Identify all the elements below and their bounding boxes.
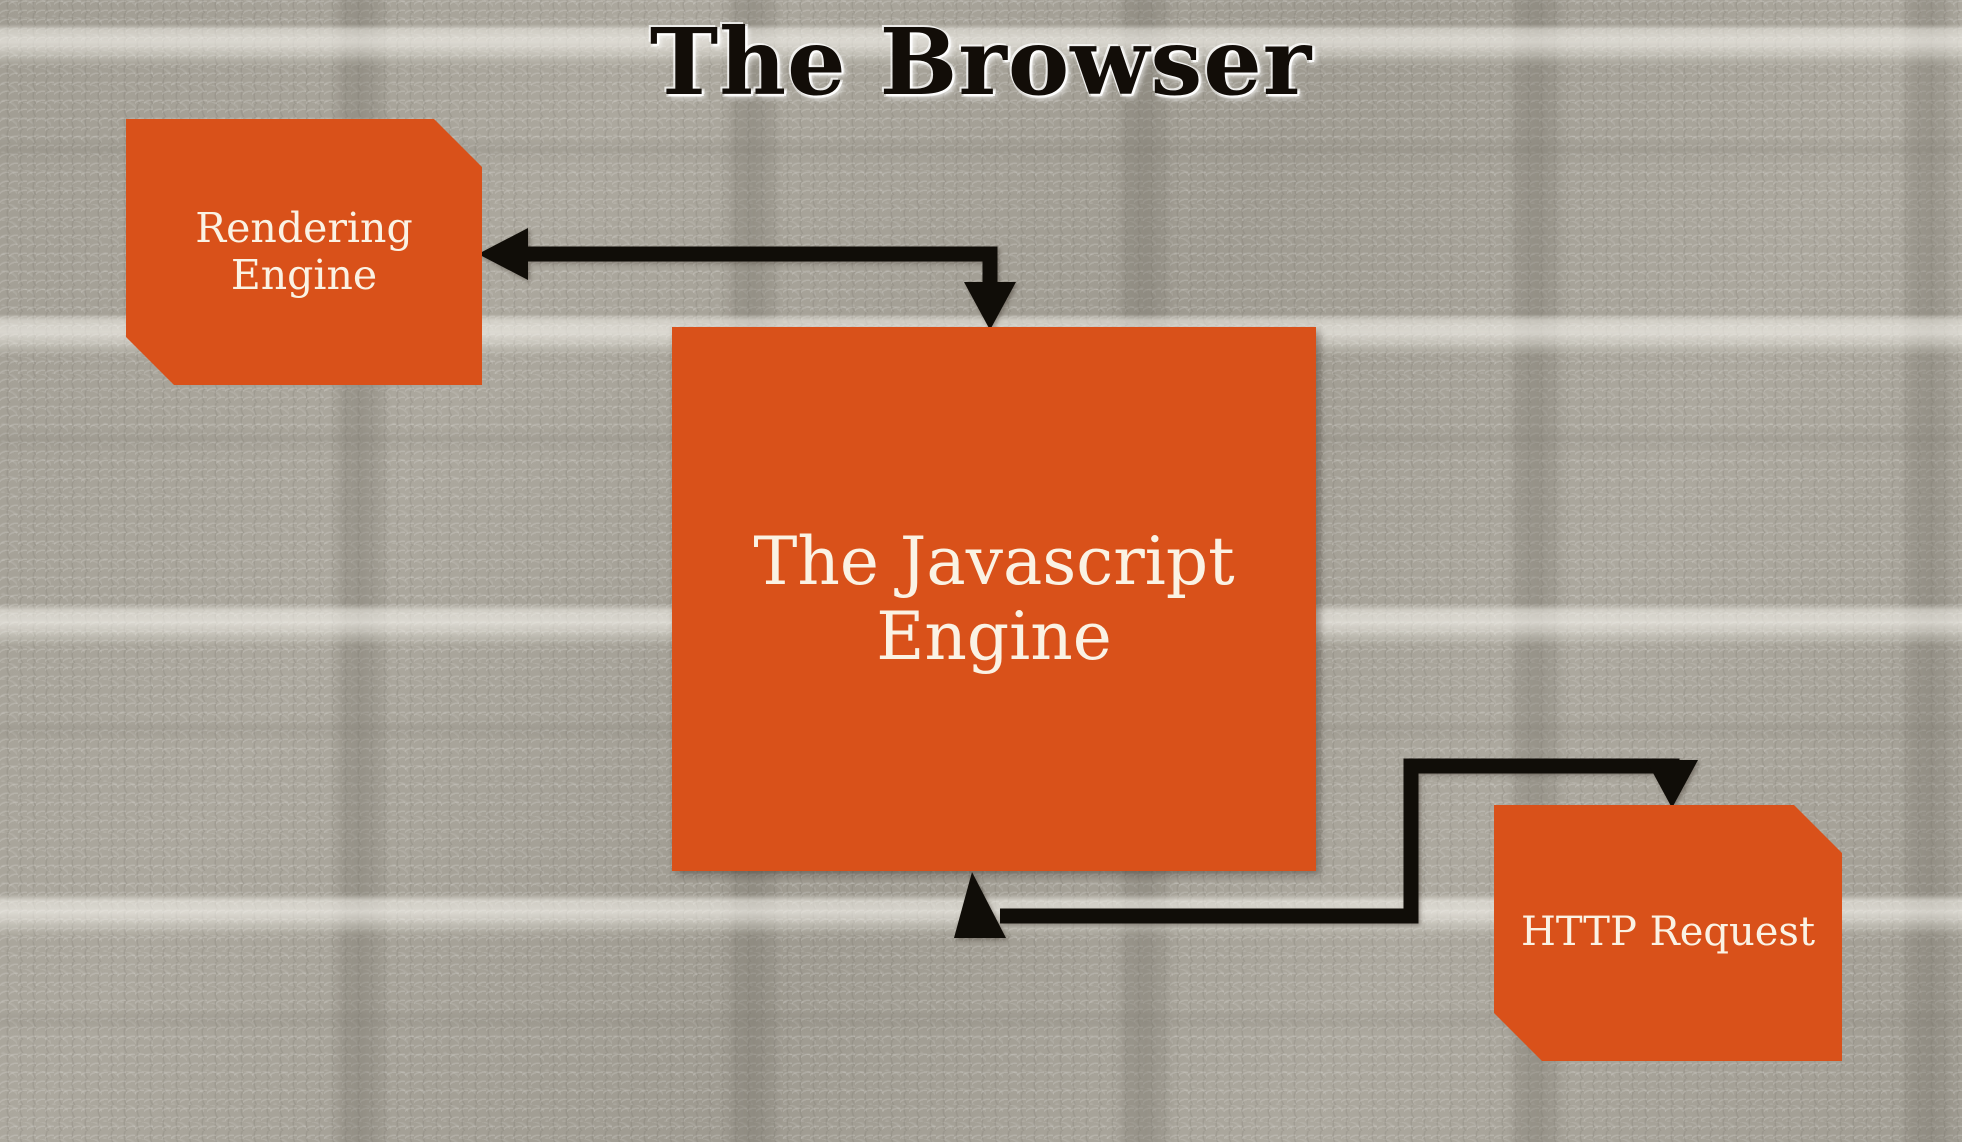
node-http-request-label: HTTP Request: [1507, 910, 1829, 956]
page-title: The Browser: [0, 8, 1962, 116]
node-rendering-engine-label: Rendering Engine: [126, 205, 482, 298]
node-js-engine-label: The Javascript Engine: [672, 524, 1316, 674]
connector-js-engine-to-rendering-engine: [478, 228, 1016, 330]
node-http-request[interactable]: HTTP Request: [1494, 805, 1842, 1061]
slide-canvas: The Browser Rende: [0, 0, 1962, 1142]
node-js-engine[interactable]: The Javascript Engine: [672, 327, 1316, 871]
node-rendering-engine[interactable]: Rendering Engine: [126, 119, 482, 385]
